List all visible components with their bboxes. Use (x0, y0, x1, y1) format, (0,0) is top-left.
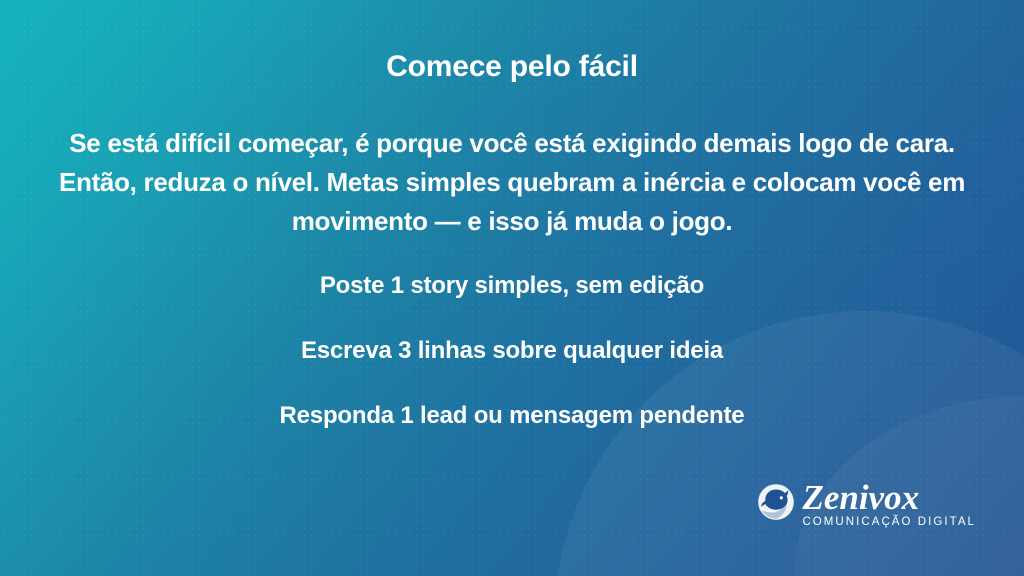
list-item: Responda 1 lead ou mensagem pendente (0, 400, 1024, 465)
logo-wordmark: Zenivox (802, 480, 919, 515)
logo-text-block: Zenivox COMUNICAÇÃO DIGITAL (802, 480, 976, 529)
wolf-head-circle-icon (757, 483, 795, 521)
body-paragraph: Se está difícil começar, é porque você e… (47, 124, 977, 241)
page-title: Comece pelo fácil (0, 50, 1024, 84)
list-item: Escreva 3 linhas sobre qualquer ideia (0, 335, 1024, 400)
action-list: Poste 1 story simples, sem edição Escrev… (0, 270, 1024, 465)
slide-content: Comece pelo fácil Se está difícil começa… (0, 0, 1024, 576)
brand-logo: Zenivox COMUNICAÇÃO DIGITAL (757, 480, 976, 529)
slide-canvas: Comece pelo fácil Se está difícil começa… (0, 0, 1024, 576)
list-item: Poste 1 story simples, sem edição (0, 270, 1024, 335)
logo-tagline: COMUNICAÇÃO DIGITAL (802, 517, 976, 529)
